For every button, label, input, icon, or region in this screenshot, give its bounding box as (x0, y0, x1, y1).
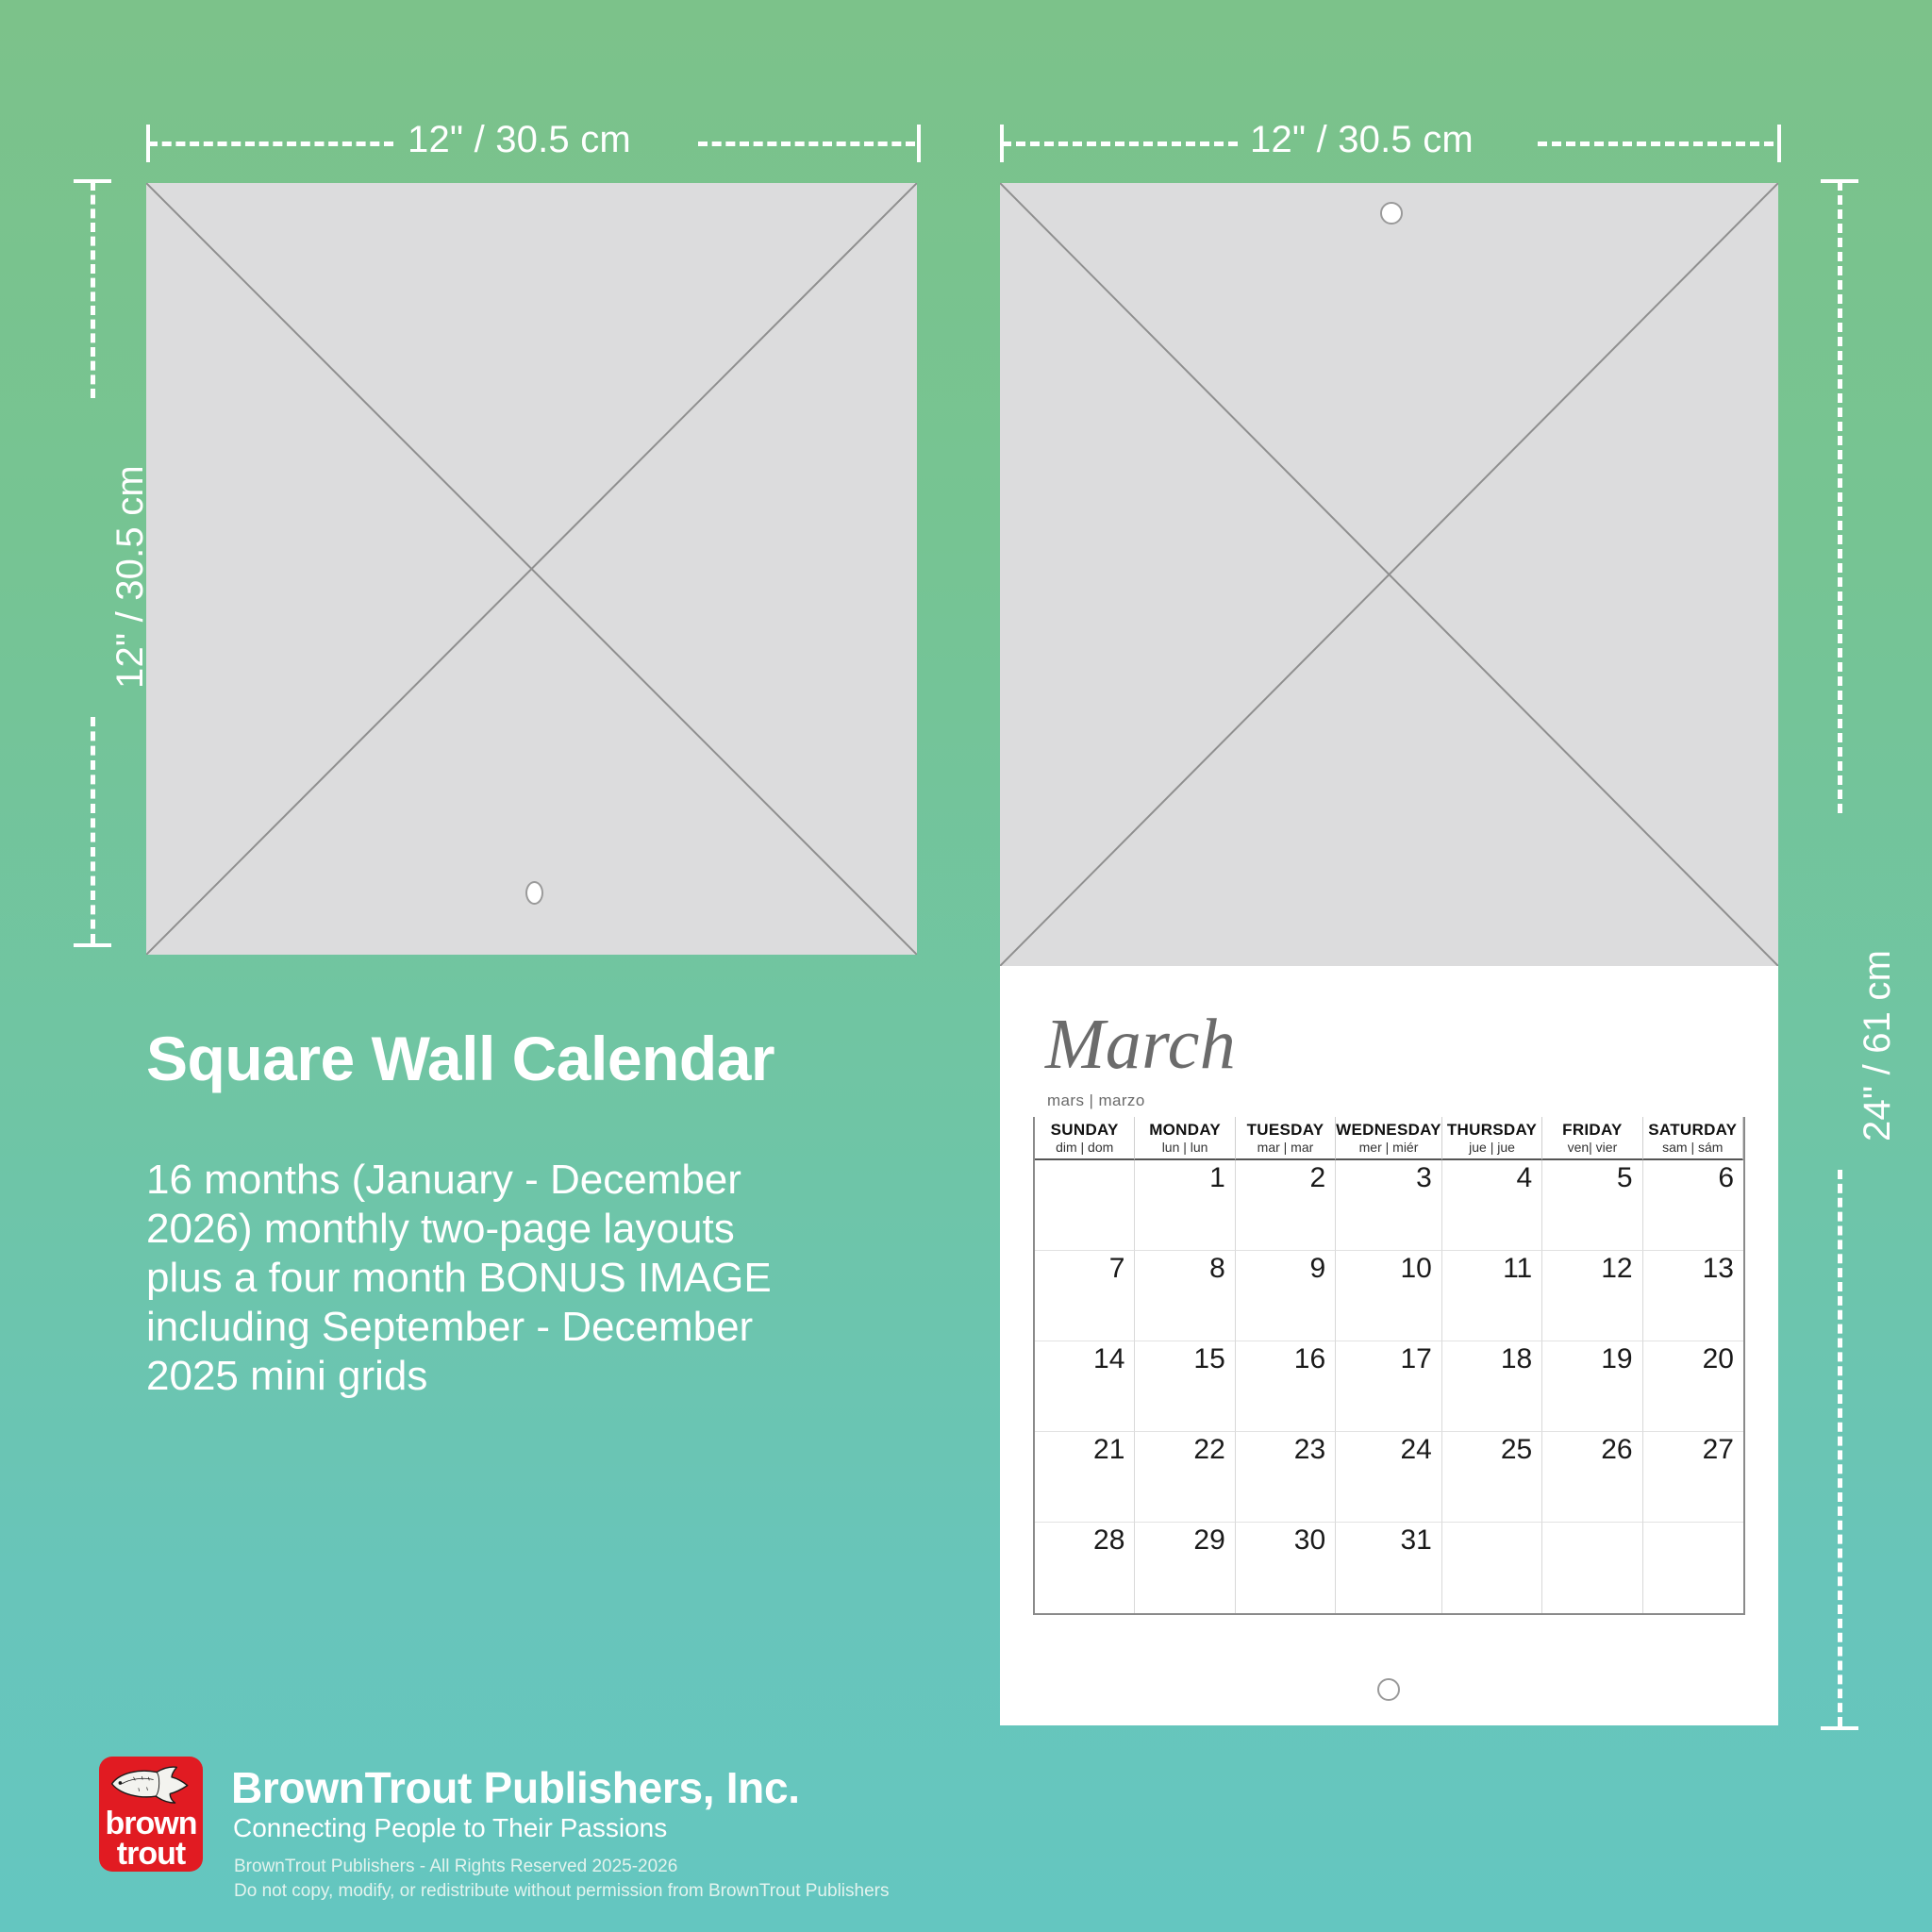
calendar-page: March mars | marzo SUNDAYdim | domMONDAY… (1000, 966, 1778, 1725)
calendar-day-cell[interactable]: 22 (1135, 1432, 1235, 1523)
weekday-label-alt: ven| vier (1542, 1140, 1641, 1156)
right-image-placeholder (1000, 183, 1778, 966)
dim-cap-right-vert-bottom (1821, 1726, 1858, 1730)
weekday-label-en: THURSDAY (1442, 1121, 1541, 1140)
calendar-day-cell[interactable]: 10 (1336, 1251, 1442, 1341)
calendar-weekday-header-6: SATURDAYsam | sám (1643, 1117, 1743, 1160)
calendar-day-cell[interactable]: 17 (1336, 1341, 1442, 1432)
calendar-day-cell[interactable]: 29 (1135, 1523, 1235, 1613)
calendar-day-cell[interactable]: 8 (1135, 1251, 1235, 1341)
calendar-day-cell[interactable]: 7 (1035, 1251, 1135, 1341)
dim-label-right-height: 24" / 61 cm (1858, 950, 1896, 1141)
placeholder-diagonals-icon (1000, 183, 1778, 966)
weekday-label-en: TUESDAY (1236, 1121, 1335, 1140)
calendar-weekday-header-3: WEDNESDAYmer | miér (1336, 1117, 1442, 1160)
calendar-day-cell[interactable]: 2 (1236, 1160, 1336, 1251)
punch-hole-left-panel (525, 881, 543, 905)
calendar-day-cell[interactable]: 4 (1442, 1160, 1542, 1251)
page-title: Square Wall Calendar (146, 1026, 774, 1091)
calendar-weekday-header-0: SUNDAYdim | dom (1035, 1117, 1135, 1160)
dim-line-right-vert-b (1838, 1170, 1842, 1726)
calendar-empty-cell (1442, 1523, 1542, 1613)
calendar-day-cell[interactable]: 18 (1442, 1341, 1542, 1432)
calendar-weekday-header-2: TUESDAYmar | mar (1236, 1117, 1336, 1160)
weekday-label-alt: mer | miér (1336, 1140, 1441, 1156)
dim-line-left-vert-a (91, 181, 95, 398)
browntrout-logo: brown trout (99, 1757, 203, 1872)
punch-hole-calendar-bottom (1377, 1678, 1400, 1701)
product-spec-sheet: 12" / 30.5 cm 12" / 30.5 cm 12" / 30.5 c… (0, 0, 1932, 1932)
calendar-day-cell[interactable]: 1 (1135, 1160, 1235, 1251)
dim-cap-left-top-end (917, 125, 921, 162)
calendar-day-cell[interactable]: 11 (1442, 1251, 1542, 1341)
dim-line-left-top-a (148, 142, 393, 146)
weekday-label-alt: mar | mar (1236, 1140, 1335, 1156)
placeholder-diagonals-icon (146, 183, 917, 955)
calendar-day-cell[interactable]: 28 (1035, 1523, 1135, 1613)
calendar-month-title: March (1045, 1008, 1236, 1080)
logo-word-trout: trout (99, 1840, 203, 1869)
calendar-day-cell[interactable]: 3 (1336, 1160, 1442, 1251)
dim-label-left-height: 12" / 30.5 cm (111, 465, 149, 689)
calendar-month-translations: mars | marzo (1047, 1091, 1145, 1110)
weekday-label-en: SATURDAY (1643, 1121, 1742, 1140)
copyright-line-1: BrownTrout Publishers - All Rights Reser… (234, 1855, 677, 1879)
weekday-label-alt: lun | lun (1135, 1140, 1234, 1156)
weekday-label-en: FRIDAY (1542, 1121, 1641, 1140)
calendar-empty-cell (1643, 1523, 1743, 1613)
weekday-label-en: SUNDAY (1035, 1121, 1134, 1140)
dim-line-left-vert-b (91, 717, 95, 943)
dim-cap-right-top-end (1777, 125, 1781, 162)
weekday-label-alt: sam | sám (1643, 1140, 1742, 1156)
publisher-tagline: Connecting People to Their Passions (233, 1813, 667, 1843)
dim-line-right-top-b (1538, 142, 1774, 146)
calendar-weekday-header-1: MONDAYlun | lun (1135, 1117, 1235, 1160)
calendar-day-cell[interactable]: 16 (1236, 1341, 1336, 1432)
publisher-name: BrownTrout Publishers, Inc. (231, 1762, 800, 1813)
calendar-empty-cell (1035, 1160, 1135, 1251)
calendar-day-cell[interactable]: 23 (1236, 1432, 1336, 1523)
calendar-day-cell[interactable]: 24 (1336, 1432, 1442, 1523)
calendar-day-cell[interactable]: 14 (1035, 1341, 1135, 1432)
calendar-day-cell[interactable]: 15 (1135, 1341, 1235, 1432)
calendar-day-cell[interactable]: 12 (1542, 1251, 1642, 1341)
weekday-label-en: MONDAY (1135, 1121, 1234, 1140)
product-description: 16 months (January - December 2026) mont… (146, 1156, 807, 1401)
calendar-date-grid: SUNDAYdim | domMONDAYlun | lunTUESDAYmar… (1033, 1117, 1745, 1615)
logo-word-brown: brown (99, 1809, 203, 1839)
calendar-day-cell[interactable]: 9 (1236, 1251, 1336, 1341)
dim-line-right-top-a (1002, 142, 1238, 146)
calendar-day-cell[interactable]: 20 (1643, 1341, 1743, 1432)
calendar-day-cell[interactable]: 13 (1643, 1251, 1743, 1341)
copyright-line-2: Do not copy, modify, or redistribute wit… (234, 1879, 889, 1904)
calendar-day-cell[interactable]: 6 (1643, 1160, 1743, 1251)
calendar-day-cell[interactable]: 30 (1236, 1523, 1336, 1613)
weekday-label-alt: dim | dom (1035, 1140, 1134, 1156)
dim-cap-left-vert-bottom (74, 943, 111, 947)
weekday-label-en: WEDNESDAY (1336, 1121, 1441, 1140)
calendar-weekday-header-5: FRIDAYven| vier (1542, 1117, 1642, 1160)
calendar-day-cell[interactable]: 5 (1542, 1160, 1642, 1251)
calendar-day-cell[interactable]: 19 (1542, 1341, 1642, 1432)
calendar-day-cell[interactable]: 21 (1035, 1432, 1135, 1523)
dim-label-right-width: 12" / 30.5 cm (1250, 121, 1474, 158)
dim-line-right-vert-a (1838, 181, 1842, 813)
dim-line-left-top-b (698, 142, 915, 146)
calendar-day-cell[interactable]: 31 (1336, 1523, 1442, 1613)
dim-label-left-width: 12" / 30.5 cm (408, 121, 631, 158)
weekday-label-alt: jue | jue (1442, 1140, 1541, 1156)
calendar-weekday-header-4: THURSDAYjue | jue (1442, 1117, 1542, 1160)
left-image-placeholder (146, 183, 917, 955)
trout-fish-icon (105, 1762, 197, 1804)
calendar-day-cell[interactable]: 26 (1542, 1432, 1642, 1523)
calendar-day-cell[interactable]: 27 (1643, 1432, 1743, 1523)
punch-hole-right-panel-top (1380, 202, 1403, 225)
calendar-day-cell[interactable]: 25 (1442, 1432, 1542, 1523)
calendar-empty-cell (1542, 1523, 1642, 1613)
